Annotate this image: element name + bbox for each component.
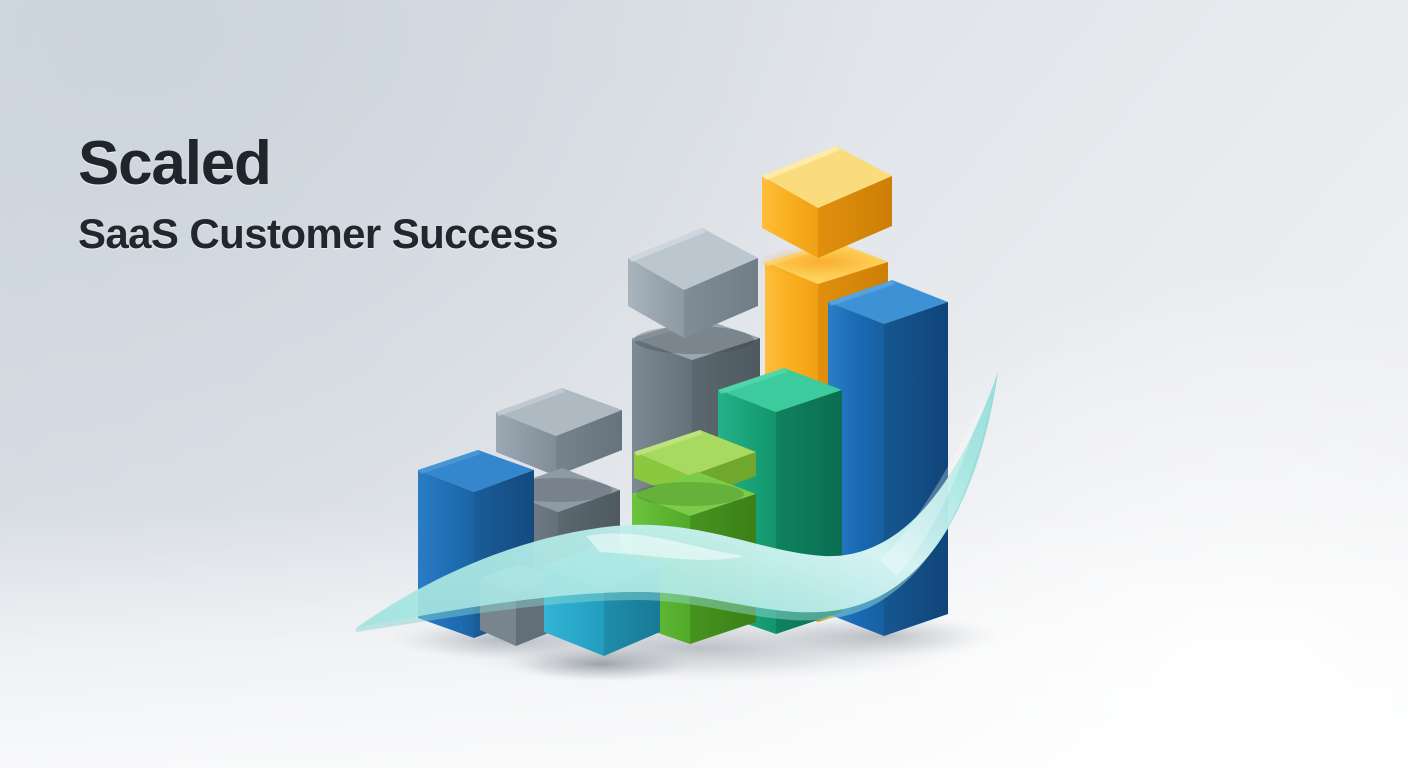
poster-canvas: Scaled SaaS Customer Success (0, 0, 1408, 768)
bar-chart-illustration (0, 0, 1408, 768)
grey-cube-floating (628, 228, 758, 338)
yellow-cube-floating (762, 146, 892, 258)
grey-slab-floating (496, 388, 622, 476)
